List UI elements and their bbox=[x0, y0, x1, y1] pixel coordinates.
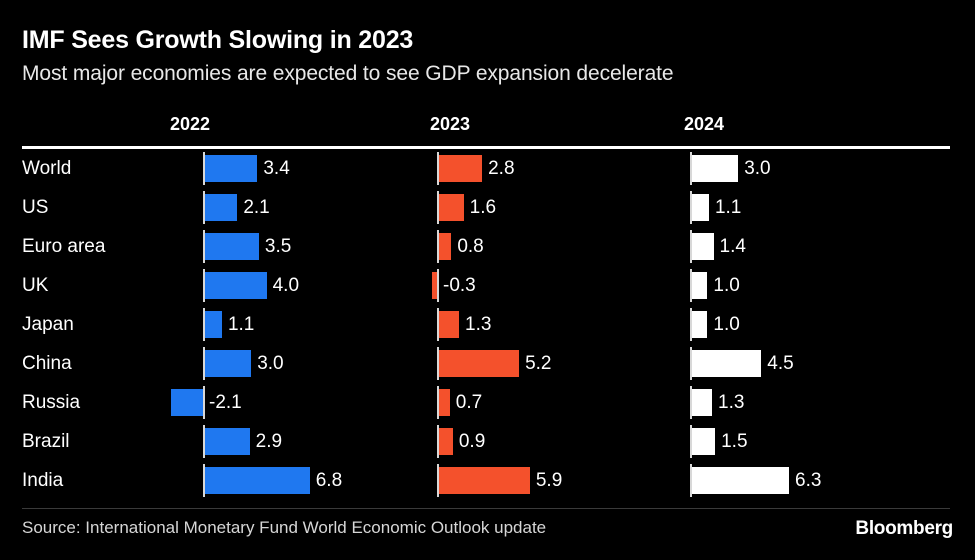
bar-2023-china bbox=[439, 350, 519, 377]
row-label-china: China bbox=[22, 353, 72, 375]
bar-2023-euro-area bbox=[439, 233, 451, 260]
row-label-world: World bbox=[22, 158, 71, 180]
chart-headline: IMF Sees Growth Slowing in 2023 bbox=[22, 26, 413, 55]
bar-value-2023-euro-area: 0.8 bbox=[457, 236, 483, 258]
row-label-india: India bbox=[22, 470, 63, 492]
bar-value-2024-world: 3.0 bbox=[744, 158, 770, 180]
chart-row: India6.85.96.3 bbox=[0, 461, 975, 500]
plot-area: World3.42.83.0US2.11.61.1Euro area3.50.8… bbox=[0, 149, 975, 505]
bar-value-2023-india: 5.9 bbox=[536, 470, 562, 492]
bar-value-2022-china: 3.0 bbox=[257, 353, 283, 375]
chart-row: US2.11.61.1 bbox=[0, 188, 975, 227]
bloomberg-logo: Bloomberg bbox=[855, 518, 953, 540]
chart-row: Euro area3.50.81.4 bbox=[0, 227, 975, 266]
bar-2024-us bbox=[692, 194, 709, 221]
bar-2023-japan bbox=[439, 311, 459, 338]
bar-value-2023-us: 1.6 bbox=[470, 197, 496, 219]
bar-value-2024-russia: 1.3 bbox=[718, 392, 744, 414]
chart-subhead: Most major economies are expected to see… bbox=[22, 62, 673, 86]
column-header-2023: 2023 bbox=[430, 114, 470, 135]
source-note: Source: International Monetary Fund Worl… bbox=[22, 518, 546, 538]
bloomberg-chart: IMF Sees Growth Slowing in 2023 Most maj… bbox=[0, 0, 975, 560]
bar-value-2023-world: 2.8 bbox=[488, 158, 514, 180]
bar-2024-china bbox=[692, 350, 761, 377]
bar-value-2024-euro-area: 1.4 bbox=[720, 236, 746, 258]
bar-2023-brazil bbox=[439, 428, 453, 455]
bar-2022-us bbox=[205, 194, 237, 221]
row-label-russia: Russia bbox=[22, 392, 80, 414]
bar-value-2022-world: 3.4 bbox=[263, 158, 289, 180]
zero-line-2022 bbox=[203, 386, 205, 419]
row-label-euro-area: Euro area bbox=[22, 236, 105, 258]
chart-row: Brazil2.90.91.5 bbox=[0, 422, 975, 461]
row-label-japan: Japan bbox=[22, 314, 74, 336]
bar-value-2023-uk: -0.3 bbox=[443, 275, 476, 297]
bar-2022-india bbox=[205, 467, 310, 494]
bar-value-2024-china: 4.5 bbox=[767, 353, 793, 375]
chart-row: UK4.0-0.31.0 bbox=[0, 266, 975, 305]
chart-row: Russia-2.10.71.3 bbox=[0, 383, 975, 422]
bar-2023-russia bbox=[439, 389, 450, 416]
bar-value-2022-japan: 1.1 bbox=[228, 314, 254, 336]
column-header-2022: 2022 bbox=[170, 114, 210, 135]
bar-2024-brazil bbox=[692, 428, 715, 455]
footer-divider bbox=[22, 508, 950, 509]
bar-2022-world bbox=[205, 155, 257, 182]
column-header-2024: 2024 bbox=[684, 114, 724, 135]
bar-2023-us bbox=[439, 194, 464, 221]
bar-value-2023-brazil: 0.9 bbox=[459, 431, 485, 453]
chart-row: Japan1.11.31.0 bbox=[0, 305, 975, 344]
bar-2023-india bbox=[439, 467, 530, 494]
bar-2024-euro-area bbox=[692, 233, 714, 260]
row-label-brazil: Brazil bbox=[22, 431, 70, 453]
bar-2024-japan bbox=[692, 311, 707, 338]
bar-value-2022-india: 6.8 bbox=[316, 470, 342, 492]
bar-value-2023-japan: 1.3 bbox=[465, 314, 491, 336]
bar-2022-japan bbox=[205, 311, 222, 338]
bar-value-2023-russia: 0.7 bbox=[456, 392, 482, 414]
bar-value-2022-us: 2.1 bbox=[243, 197, 269, 219]
bar-value-2023-china: 5.2 bbox=[525, 353, 551, 375]
bar-value-2024-japan: 1.0 bbox=[713, 314, 739, 336]
bar-value-2024-india: 6.3 bbox=[795, 470, 821, 492]
bar-2023-world bbox=[439, 155, 482, 182]
bar-value-2024-uk: 1.0 bbox=[713, 275, 739, 297]
bar-2024-india bbox=[692, 467, 789, 494]
row-label-uk: UK bbox=[22, 275, 48, 297]
bar-2023-uk bbox=[432, 272, 437, 299]
bar-2022-uk bbox=[205, 272, 267, 299]
bar-2022-euro-area bbox=[205, 233, 259, 260]
bar-2022-brazil bbox=[205, 428, 250, 455]
bar-2022-china bbox=[205, 350, 251, 377]
chart-row: World3.42.83.0 bbox=[0, 149, 975, 188]
bar-2022-russia bbox=[171, 389, 203, 416]
bar-value-2022-euro-area: 3.5 bbox=[265, 236, 291, 258]
bar-2024-russia bbox=[692, 389, 712, 416]
bar-value-2022-russia: -2.1 bbox=[209, 392, 242, 414]
row-label-us: US bbox=[22, 197, 48, 219]
bar-value-2022-uk: 4.0 bbox=[273, 275, 299, 297]
bar-value-2024-brazil: 1.5 bbox=[721, 431, 747, 453]
bar-value-2024-us: 1.1 bbox=[715, 197, 741, 219]
bar-2024-world bbox=[692, 155, 738, 182]
chart-row: China3.05.24.5 bbox=[0, 344, 975, 383]
bar-value-2022-brazil: 2.9 bbox=[256, 431, 282, 453]
bar-2024-uk bbox=[692, 272, 707, 299]
zero-line-2023 bbox=[437, 269, 439, 302]
